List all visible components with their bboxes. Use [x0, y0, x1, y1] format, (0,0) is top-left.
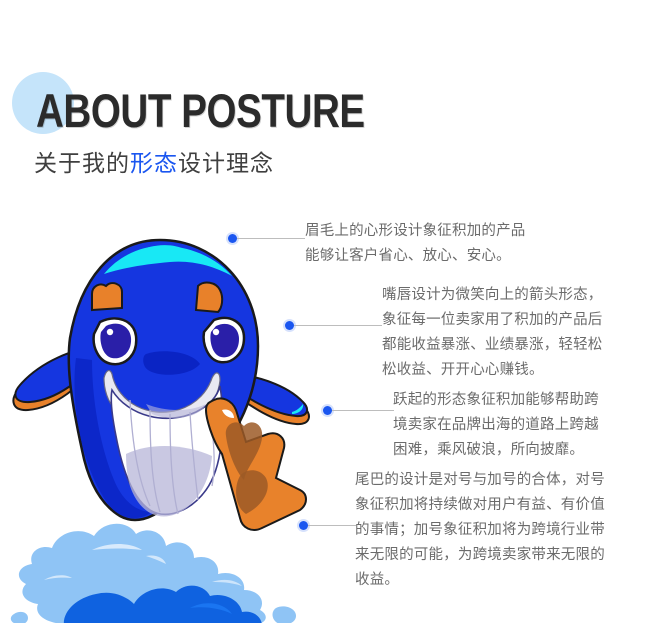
- whale-mascot-illustration: [0, 228, 320, 538]
- whale-eyebrow-left-icon: [92, 283, 122, 310]
- connector-stroke: [332, 410, 394, 411]
- subtitle-post: 设计理念: [178, 150, 274, 176]
- connector-stroke: [294, 325, 382, 326]
- whale-eye-right: [204, 318, 244, 362]
- connector-dot: [299, 521, 308, 530]
- callout-text-eyebrow: 眉毛上的心形设计象征积加的产品 能够让客户省心、放心、安心。: [305, 219, 526, 269]
- whale-eye-left: [94, 318, 137, 364]
- connector-stroke: [308, 525, 356, 526]
- page-subtitle: 关于我的形态设计理念: [34, 148, 274, 178]
- about-posture-page: ABOUT POSTURE 关于我的形态设计理念: [0, 0, 650, 623]
- callout-text-tail: 尾巴的设计是对号与加号的合体，对号 象征积加将持续做对用户有益、有价值 的事情；…: [355, 468, 605, 593]
- connector-dot: [228, 234, 237, 243]
- callout-text-leap: 跃起的形态象征积加能够帮助跨 境卖家在品牌出海的道路上跨越 困难，乘风破浪，所向…: [393, 388, 599, 463]
- water-splash-illustration: [0, 512, 320, 623]
- subtitle-pre: 关于我的: [34, 150, 130, 176]
- page-title: ABOUT POSTURE: [36, 86, 365, 136]
- connector-dot: [285, 321, 294, 330]
- whale-eyebrow-right-icon: [196, 283, 222, 312]
- subtitle-highlight: 形态: [130, 150, 178, 176]
- callout-text-mouth: 嘴唇设计为微笑向上的箭头形态， 象征每一位卖家用了积加的产品后 都能收益暴涨、业…: [382, 283, 603, 383]
- connector-stroke: [237, 238, 305, 239]
- connector-dot: [323, 406, 332, 415]
